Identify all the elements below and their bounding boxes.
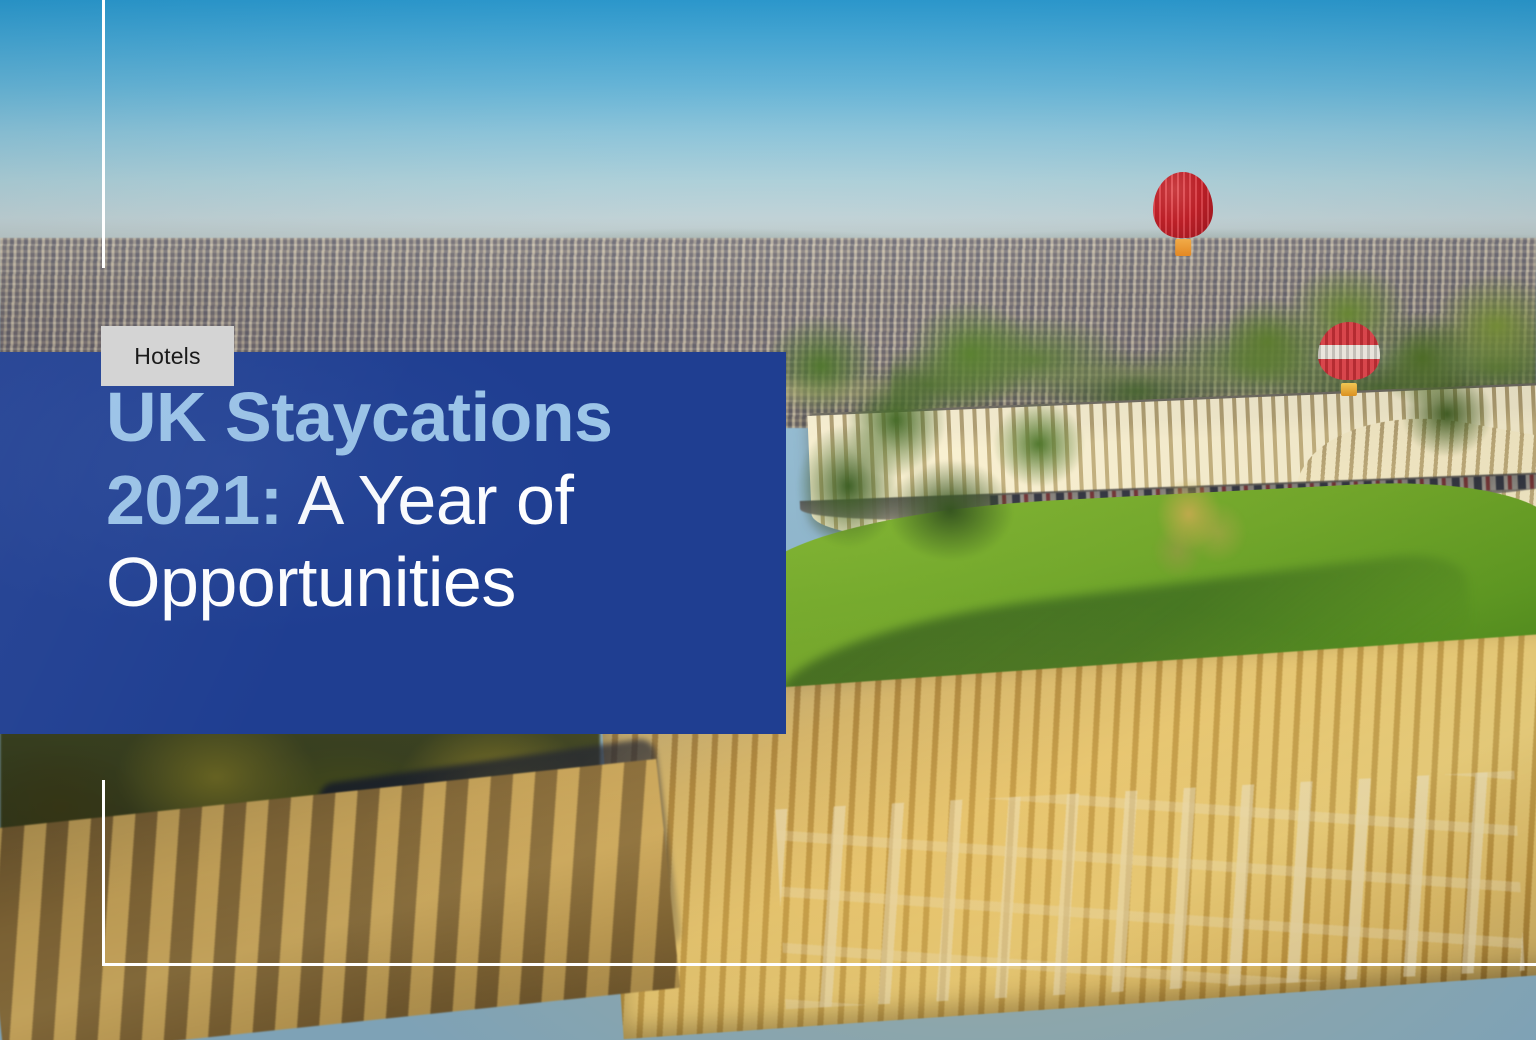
title-segment-opportunities: Opportunities — [106, 543, 516, 621]
category-tag: Hotels — [101, 326, 234, 386]
category-tag-label: Hotels — [134, 343, 200, 370]
foreground-windows — [775, 771, 1524, 1009]
title-segment-year: 2021: — [106, 461, 283, 539]
title-segment-a-year-of: A Year of — [283, 461, 574, 539]
park-trees-left — [760, 300, 1100, 600]
page-title: UK Staycations 2021: A Year of Opportuni… — [106, 376, 756, 624]
woodland-right — [1230, 270, 1536, 470]
title-line-3: Opportunities — [106, 541, 756, 624]
balloon-envelope — [1318, 322, 1380, 380]
decorative-rule-bottom-horizontal — [102, 963, 1536, 966]
lawn-centre-tree — [1145, 470, 1255, 600]
report-cover-page: UK Staycations 2021: A Year of Opportuni… — [0, 0, 1536, 1040]
title-line-1: UK Staycations — [106, 376, 756, 459]
hot-air-balloon-striped-icon — [1318, 322, 1380, 396]
title-segment-uk-staycations: UK Staycations — [106, 378, 612, 456]
decorative-rule-top-left — [102, 0, 105, 268]
balloon-envelope — [1153, 172, 1213, 238]
hot-air-balloon-red-icon — [1153, 172, 1213, 256]
title-line-2: 2021: A Year of — [106, 459, 756, 542]
balloon-basket — [1175, 239, 1191, 256]
title-panel: UK Staycations 2021: A Year of Opportuni… — [0, 352, 786, 734]
decorative-rule-bottom-left — [102, 780, 105, 966]
balloon-basket — [1341, 383, 1357, 396]
